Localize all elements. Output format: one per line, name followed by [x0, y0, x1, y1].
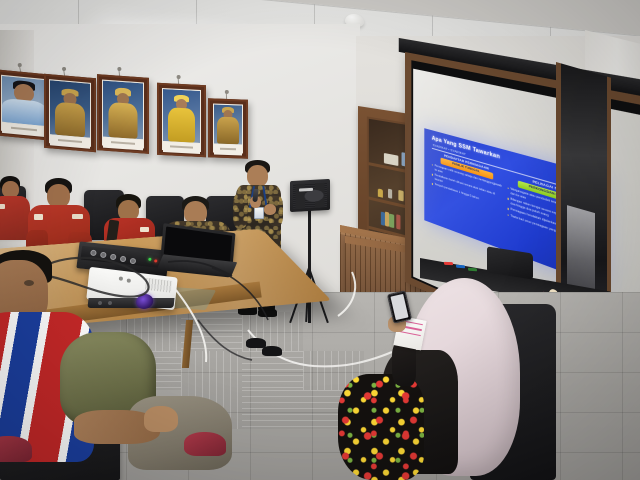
shelf-plaque — [384, 153, 398, 166]
shelf-book — [385, 211, 389, 226]
shirt-logo — [0, 204, 5, 209]
whiteboard-marker[interactable] — [456, 265, 465, 269]
hand — [144, 406, 178, 432]
shelf-book — [380, 212, 384, 226]
foreground-attendee — [0, 250, 218, 480]
portrait-frame-3 — [97, 74, 149, 154]
meeting-room-photo: SSM Apa Yang SSM Tawarkan SYARIKAT • SYA… — [0, 0, 640, 480]
portrait-frame-4 — [157, 83, 206, 158]
shelf-trophy — [398, 190, 403, 202]
carpet-tile — [242, 390, 303, 429]
shelf-trophy — [388, 189, 392, 199]
attendee-shoe — [262, 346, 282, 356]
shirt-name-tag — [72, 214, 83, 219]
red-sneaker — [184, 432, 226, 456]
speaker-stand-pole — [308, 208, 311, 323]
gesturing-hand — [264, 204, 276, 215]
whiteboard-marker[interactable] — [468, 268, 477, 272]
shelf-book — [390, 214, 395, 229]
shirt-logo — [140, 227, 149, 232]
id-badge — [254, 207, 264, 219]
portrait-frame-2 — [44, 74, 96, 153]
attendee-red-3 — [0, 176, 28, 242]
hijab-attendee — [352, 278, 552, 480]
carpet-tile — [242, 351, 303, 390]
pa-speaker — [290, 179, 330, 212]
red-sneaker — [0, 436, 32, 462]
shelf-book — [396, 214, 400, 230]
portrait-frame-5 — [208, 98, 248, 158]
ear — [24, 280, 34, 286]
shelf-trophy — [378, 188, 383, 197]
speaker-grille — [293, 182, 327, 209]
floral-skirt — [338, 374, 424, 480]
shirt-logo — [34, 214, 43, 220]
presenter-shoe — [258, 308, 277, 317]
whiteboard-marker[interactable] — [444, 262, 453, 265]
